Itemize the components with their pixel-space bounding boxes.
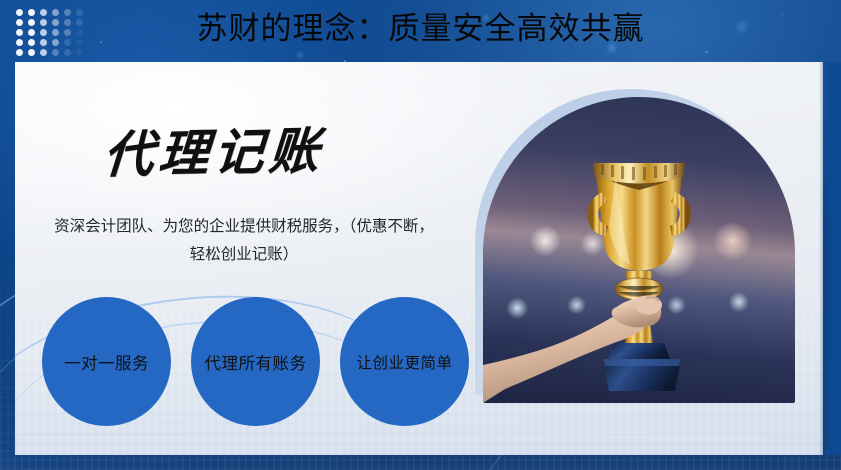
page-title: 苏财的理念：质量安全高效共赢 bbox=[0, 6, 841, 52]
trophy-icon bbox=[483, 97, 795, 403]
feature-bubble-label: 让创业更简单 bbox=[356, 351, 452, 373]
trophy-base-top bbox=[603, 359, 681, 366]
feature-bubble-label: 代理所有账务 bbox=[205, 350, 307, 374]
slide-header: 苏财的理念：质量安全高效共赢 bbox=[0, 0, 841, 62]
slide-root: 苏财的理念：质量安全高效共赢 代理记账 资深会计团队、为您的企业提供财税服务，（… bbox=[0, 0, 841, 470]
trophy-plinth bbox=[608, 343, 670, 359]
arch-photo-frame bbox=[483, 97, 795, 403]
trophy-photo-arch bbox=[483, 97, 795, 403]
feature-bubble-all-accounts[interactable]: 代理所有账务 bbox=[191, 297, 320, 426]
right-edge-glow bbox=[819, 62, 841, 455]
feature-bubble-one-to-one[interactable]: 一对一服务 bbox=[42, 297, 171, 426]
feature-bubble-label: 一对一服务 bbox=[64, 350, 149, 374]
card-headline: 代理记账 bbox=[101, 111, 326, 188]
feature-bubble-group: 一对一服务 代理所有账务 让创业更简单 bbox=[42, 297, 492, 427]
feature-bubble-simpler-startup[interactable]: 让创业更简单 bbox=[340, 297, 469, 426]
card-lead-text: 资深会计团队、为您的企业提供财税服务，（优惠不断，轻松创业记账） bbox=[52, 212, 436, 268]
